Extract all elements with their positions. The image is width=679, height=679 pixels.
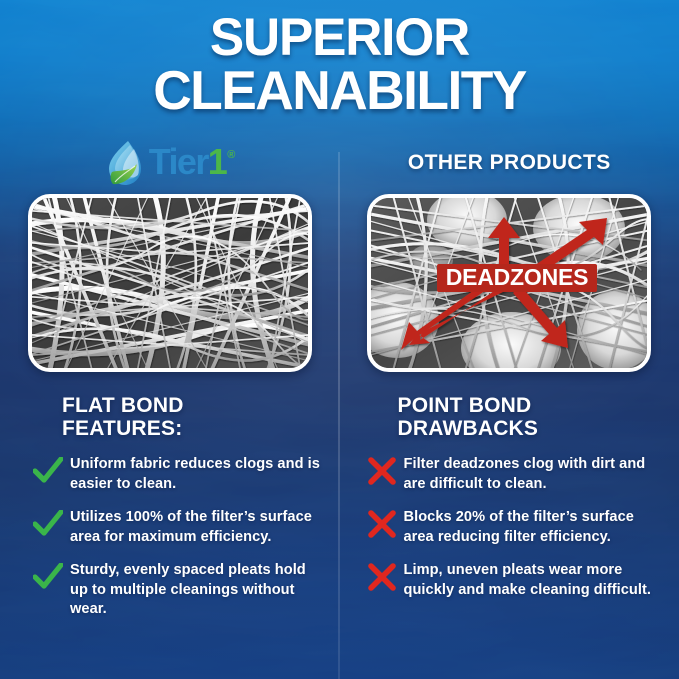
- logo-text-tier: Tier: [149, 141, 208, 183]
- cross-icon: [360, 508, 404, 538]
- comparison-columns: Tier 1 ®: [0, 132, 679, 679]
- flat-bond-image: [28, 194, 312, 372]
- list-item: Sturdy, evenly spaced pleats hold up to …: [0, 561, 340, 620]
- flat-bond-heading-line-2: FEATURES:: [62, 417, 340, 440]
- flat-bond-heading-line-1: FLAT BOND: [62, 394, 340, 417]
- point-bond-drawback-list: Filter deadzones clog with dirt and are …: [340, 455, 679, 600]
- other-products-title: OTHER PRODUCTS: [340, 132, 679, 194]
- infographic-root: SUPERIOR CLEANABILITY: [0, 0, 679, 679]
- page-title: SUPERIOR CLEANABILITY: [10, 12, 669, 116]
- list-item: Blocks 20% of the filter’s surface area …: [340, 508, 679, 547]
- brand-row: Tier 1 ®: [0, 132, 340, 194]
- check-icon: [26, 561, 70, 591]
- point-bond-heading: POINT BOND DRAWBACKS: [398, 394, 679, 440]
- flat-bond-heading: FLAT BOND FEATURES:: [62, 394, 340, 440]
- logo-text-one: 1: [208, 141, 226, 183]
- column-tier1: Tier 1 ®: [0, 132, 340, 679]
- point-bond-heading-line-2: DRAWBACKS: [398, 417, 679, 440]
- point-bond-image-wrap: DEADZONES: [340, 194, 679, 372]
- cross-icon: [360, 561, 404, 591]
- list-item: Utilizes 100% of the filter’s surface ar…: [0, 508, 340, 547]
- flat-bond-feature-list: Uniform fabric reduces clogs and is easi…: [0, 455, 340, 620]
- tier1-wordmark: Tier 1 ®: [149, 141, 234, 183]
- check-icon: [26, 508, 70, 538]
- list-item: Limp, uneven pleats wear more quickly an…: [340, 561, 679, 600]
- list-item: Filter deadzones clog with dirt and are …: [340, 455, 679, 494]
- list-item: Uniform fabric reduces clogs and is easi…: [0, 455, 340, 494]
- cross-icon: [360, 455, 404, 485]
- deadzone-label: DEADZONES: [437, 264, 597, 292]
- point-bond-fiber-texture: DEADZONES: [371, 198, 647, 368]
- point-bond-image: DEADZONES: [367, 194, 651, 372]
- list-item-text: Filter deadzones clog with dirt and are …: [404, 455, 662, 494]
- tier1-logo: Tier 1 ®: [106, 140, 234, 186]
- flat-bond-fiber-texture: [32, 198, 308, 368]
- svg-text:DEADZONES: DEADZONES: [446, 264, 589, 290]
- list-item-text: Sturdy, evenly spaced pleats hold up to …: [70, 561, 322, 620]
- point-bond-heading-line-1: POINT BOND: [398, 394, 679, 417]
- list-item-text: Limp, uneven pleats wear more quickly an…: [404, 561, 662, 600]
- list-item-text: Utilizes 100% of the filter’s surface ar…: [70, 508, 322, 547]
- list-item-text: Uniform fabric reduces clogs and is easi…: [70, 455, 322, 494]
- headline-line-2: CLEANABILITY: [10, 64, 669, 116]
- water-drop-leaf-icon: [106, 140, 146, 186]
- flat-bond-image-wrap: [0, 194, 340, 372]
- list-item-text: Blocks 20% of the filter’s surface area …: [404, 508, 662, 547]
- column-other-products: OTHER PRODUCTS: [340, 132, 679, 679]
- check-icon: [26, 455, 70, 485]
- registered-trademark-icon: ®: [227, 149, 234, 161]
